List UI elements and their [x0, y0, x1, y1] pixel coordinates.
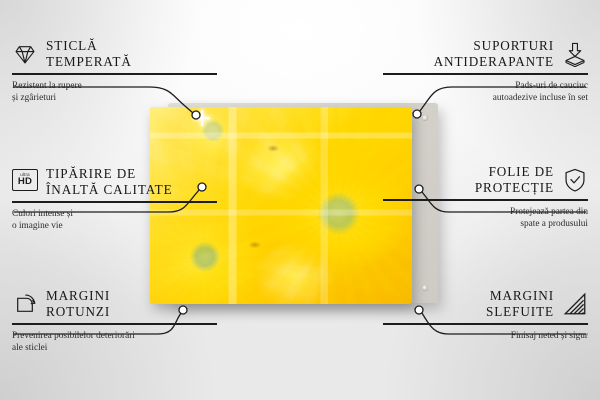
callout-title: FOLIE DE PROTECȚIE	[475, 164, 554, 195]
rubber-pad-top	[422, 115, 428, 121]
callout-header: ultra HD TIPĂRIRE DE ÎNALTĂ CALITATE	[12, 166, 217, 197]
feature-callout-tiparire-inalta-calitate: ultra HD TIPĂRIRE DE ÎNALTĂ CALITATE Cul…	[12, 166, 217, 233]
callout-divider	[383, 199, 588, 200]
callout-header: SUPORTURI ANTIDERAPANTE	[383, 38, 588, 69]
callout-header: MARGINI ROTUNZI	[12, 288, 217, 319]
callout-title: TIPĂRIRE DE ÎNALTĂ CALITATE	[46, 166, 173, 197]
feature-callout-suporturi-antiderapante: SUPORTURI ANTIDERAPANTE Pads-uri de cauc…	[383, 38, 588, 105]
callout-title: MARGINI ROTUNZI	[46, 288, 110, 319]
callout-description: Prevenirea posibilelor deteriorări ale s…	[12, 330, 217, 356]
feature-callout-margini-slefuite: MARGINI SLEFUITE Finisaj neted și sigur	[383, 288, 588, 342]
callout-description: Rezistent la rupere și zgârieturi	[12, 80, 217, 106]
anti-slip-pad-icon	[562, 41, 588, 67]
callout-header: MARGINI SLEFUITE	[383, 288, 588, 319]
callout-divider	[12, 201, 217, 202]
shield-check-icon	[562, 167, 588, 193]
rounded-corner-icon	[12, 291, 38, 317]
callout-title: SUPORTURI ANTIDERAPANTE	[434, 38, 554, 69]
callout-divider	[12, 73, 217, 74]
callout-header: STICLĂ TEMPERATĂ	[12, 38, 217, 69]
ultra-hd-icon: ultra HD	[12, 169, 38, 195]
callout-divider	[383, 323, 588, 324]
callout-title: MARGINI SLEFUITE	[486, 288, 554, 319]
callout-title: STICLĂ TEMPERATĂ	[46, 38, 132, 69]
callout-divider	[383, 73, 588, 74]
feature-callout-margini-rotunzi: MARGINI ROTUNZI Prevenirea posibilelor d…	[12, 288, 217, 355]
callout-description: Pads-uri de cauciuc autoadezive incluse …	[383, 80, 588, 106]
feature-callout-sticla-temperata: STICLĂ TEMPERATĂ Rezistent la rupere și …	[12, 38, 217, 105]
callout-divider	[12, 323, 217, 324]
diamond-icon	[12, 41, 38, 67]
ultra-hd-badge-large: HD	[18, 177, 32, 187]
feature-callout-folie-de-protectie: FOLIE DE PROTECȚIE Protejează partea din…	[383, 164, 588, 231]
polished-edge-icon	[562, 291, 588, 317]
callout-description: Finisaj neted și sigur	[383, 330, 588, 343]
callout-header: FOLIE DE PROTECȚIE	[383, 164, 588, 195]
callout-description: Culori intense și o imagine vie	[12, 208, 217, 234]
callout-description: Protejează partea din spate a produsului	[383, 206, 588, 232]
